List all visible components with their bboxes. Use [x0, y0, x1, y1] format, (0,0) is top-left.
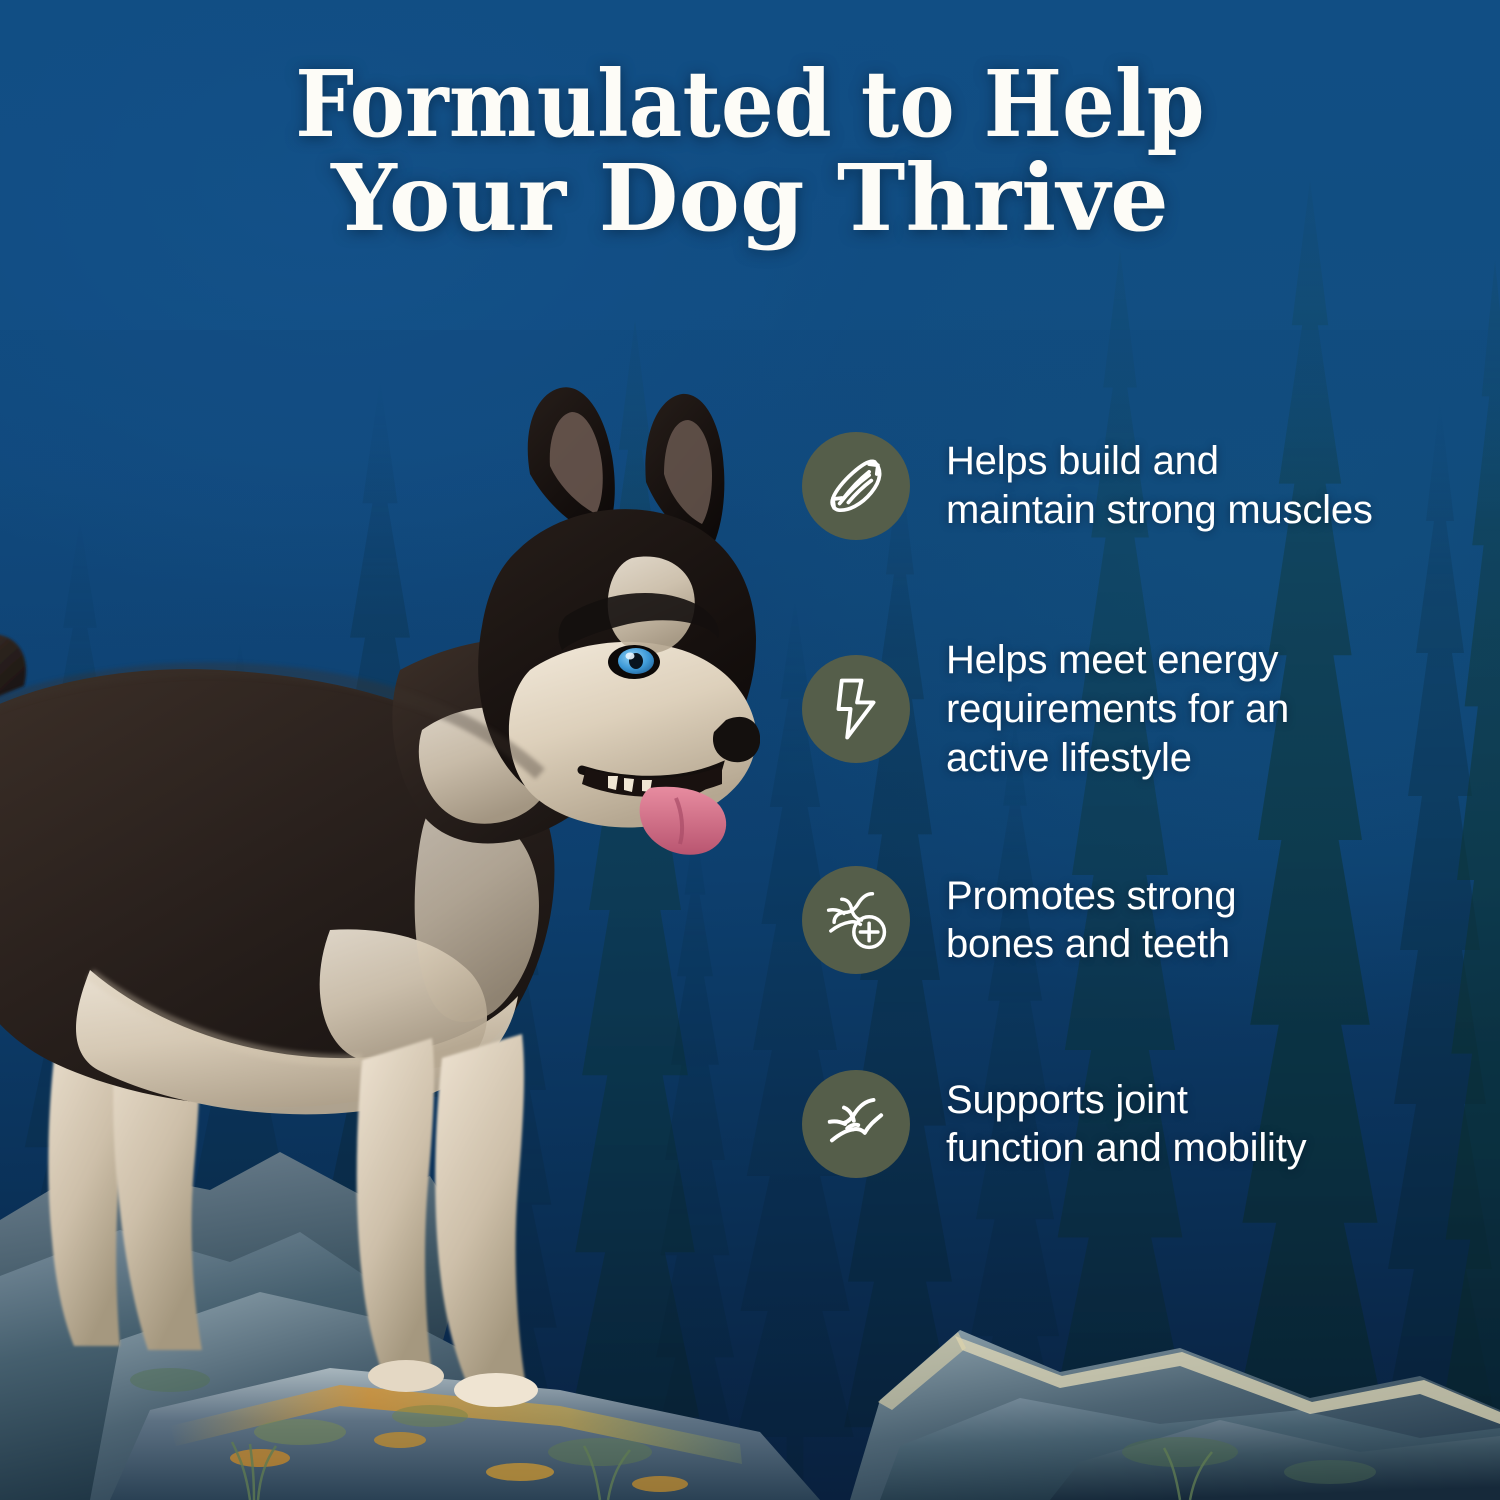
front-leg-near [435, 1034, 526, 1386]
page-title: Formulated to Help Your Dog Thrive [0, 58, 1500, 246]
benefit-item-joints: Supports joint function and mobility [802, 1070, 1482, 1178]
benefit-text-1: Helps build and maintain strong muscles [946, 437, 1373, 535]
muscle-icon [821, 451, 891, 521]
paw-near [454, 1373, 538, 1407]
husky-dog-photo [0, 370, 760, 1450]
paw-far [368, 1360, 444, 1392]
benefit-item-bones: Promotes strong bones and teeth [802, 866, 1482, 974]
benefits-list: Helps build and maintain strong muscles … [802, 432, 1482, 1178]
benefit-badge-2 [802, 655, 910, 763]
benefit-text-3: Promotes strong bones and teeth [946, 872, 1236, 970]
lightning-bolt-icon [821, 674, 891, 744]
headline-line-1: Formulated to Help [75, 58, 1425, 152]
bone-joint-plus-icon [821, 885, 891, 955]
front-leg-far [357, 1038, 434, 1372]
benefit-badge-1 [802, 432, 910, 540]
benefit-item-energy: Helps meet energy requirements for an ac… [802, 636, 1482, 782]
promo-image: Formulated to Help Your Dog Thrive Helps… [0, 0, 1500, 1500]
joint-mobility-icon [821, 1089, 891, 1159]
eye-highlight [626, 653, 635, 660]
benefit-text-4: Supports joint function and mobility [946, 1076, 1306, 1174]
benefit-item-muscle: Helps build and maintain strong muscles [802, 432, 1482, 540]
benefit-badge-3 [802, 866, 910, 974]
headline-line-2: Your Dog Thrive [331, 144, 1169, 252]
benefit-badge-4 [802, 1070, 910, 1178]
husky-illustration [0, 370, 760, 1450]
benefit-text-2: Helps meet energy requirements for an ac… [946, 636, 1289, 782]
